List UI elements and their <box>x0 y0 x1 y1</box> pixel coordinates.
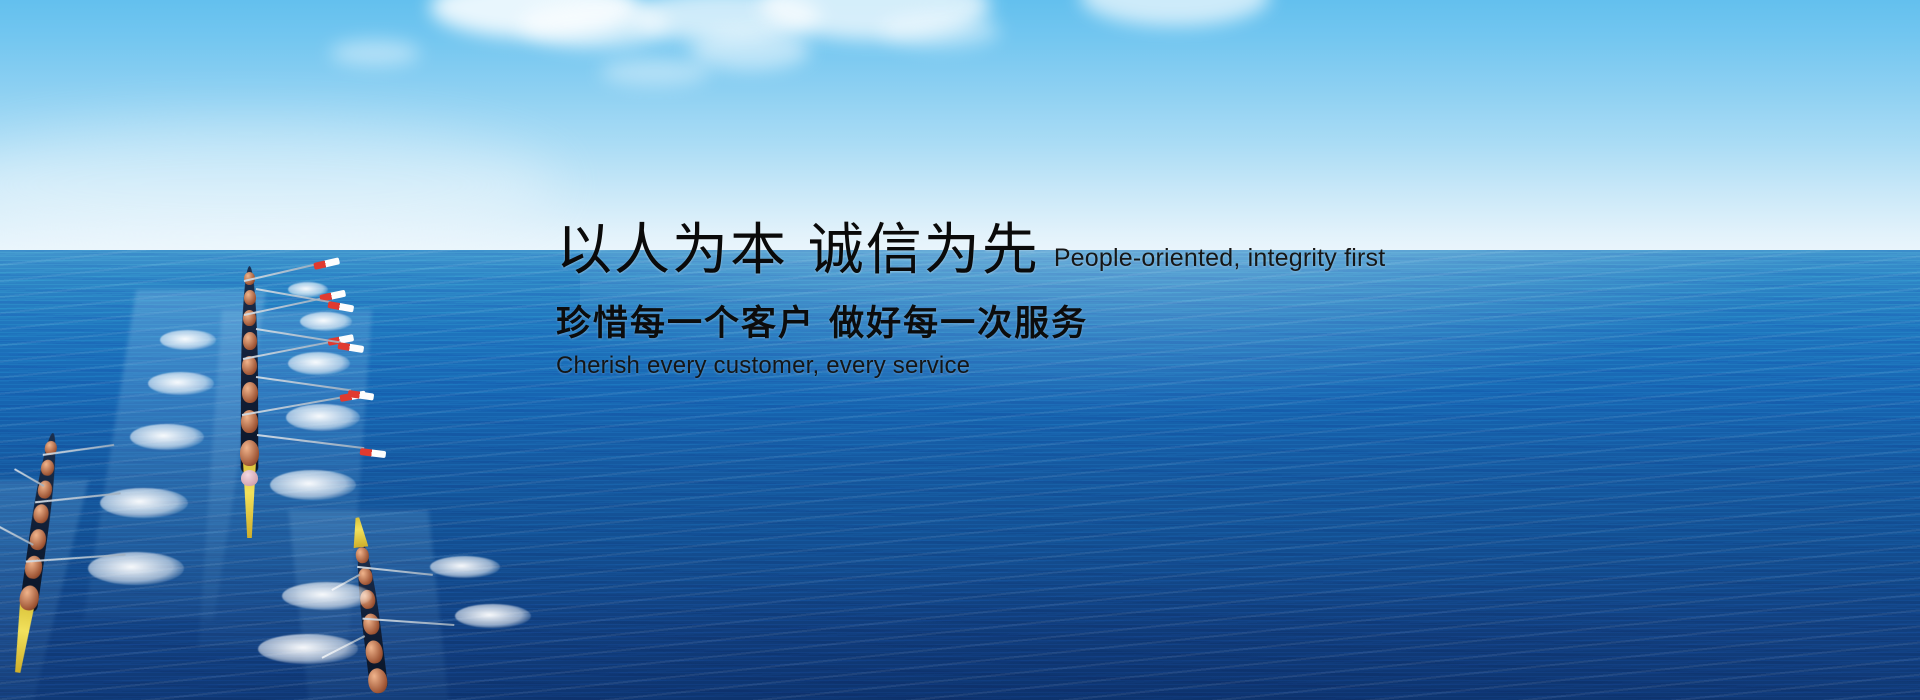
cloud-icon <box>330 40 420 66</box>
hero-banner: 以人为本 诚信为先 People-oriented, integrity fir… <box>0 0 1920 700</box>
boat-bow-accent <box>6 602 38 674</box>
coxswain <box>241 470 258 486</box>
water-splash <box>288 282 328 297</box>
headline-row: 以人为本 诚信为先 People-oriented, integrity fir… <box>556 222 1456 279</box>
water-splash <box>282 582 372 610</box>
cloud-icon <box>1080 0 1270 26</box>
cloud-icon <box>690 30 810 70</box>
chinese-headline: 以人为本 诚信为先 <box>556 222 1040 279</box>
english-headline: People-oriented, integrity first <box>1054 244 1386 279</box>
water-splash <box>258 634 358 664</box>
slogan-block: 以人为本 诚信为先 People-oriented, integrity fir… <box>556 222 1456 380</box>
water-splash <box>148 372 214 395</box>
water-splash <box>288 352 350 375</box>
water-splash <box>430 556 500 578</box>
water-splash <box>286 404 360 431</box>
rower <box>244 290 256 305</box>
horizon-haze <box>0 120 560 250</box>
water-splash <box>455 604 531 628</box>
rower <box>243 332 257 350</box>
center-rowing-shell <box>228 262 272 532</box>
chinese-subline: 珍惜每一个客户 做好每一次服务 <box>556 295 1456 346</box>
english-subline: Cherish every customer, every service <box>556 352 1456 380</box>
water-splash <box>160 330 216 350</box>
rower <box>240 440 259 466</box>
cloud-icon <box>880 14 1000 48</box>
water-splash <box>300 312 352 331</box>
rower <box>242 382 258 403</box>
water-splash <box>130 424 204 450</box>
cloud-icon <box>600 58 710 86</box>
water-splash <box>270 470 356 500</box>
